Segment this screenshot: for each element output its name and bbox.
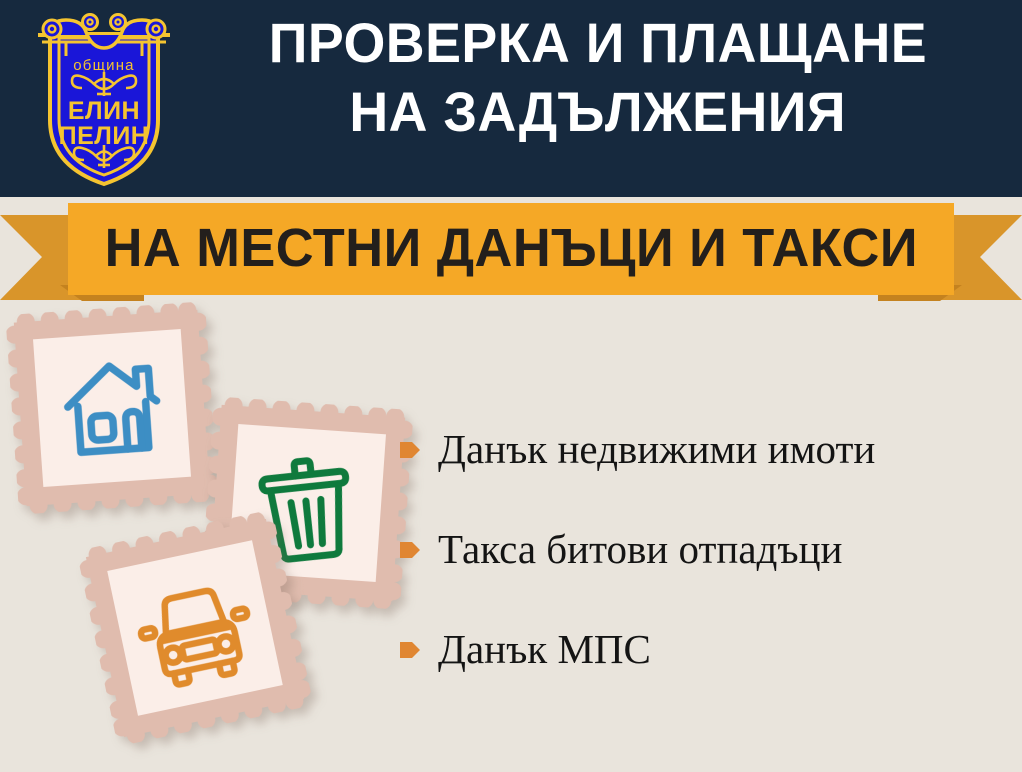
- arrow-bullet-icon: [400, 639, 420, 661]
- ribbon-label: НА МЕСТНИ ДАНЪЦИ И ТАКСИ: [104, 221, 917, 277]
- list-item-label: Данък МПС: [438, 627, 651, 671]
- list-item[interactable]: Такса битови отпадъци: [400, 525, 1012, 573]
- title-line-2: НА ЗАДЪЛЖЕНИЯ: [349, 85, 846, 140]
- tax-type-list: Данък недвижими имоти Такса битови отпад…: [400, 425, 1012, 673]
- list-item-label: Такса битови отпадъци: [438, 527, 842, 571]
- title-line-1: ПРОВЕРКА И ПЛАЩАНЕ: [268, 16, 926, 71]
- municipality-logo: община ЕЛИН ПЕЛИН: [28, 8, 180, 190]
- poster-canvas: община ЕЛИН ПЕЛИН: [0, 0, 1022, 772]
- list-item[interactable]: Данък МПС: [400, 625, 1012, 673]
- svg-text:община: община: [73, 57, 134, 74]
- list-item-label: Данък недвижими имоти: [438, 427, 875, 471]
- arrow-bullet-icon: [400, 539, 420, 561]
- header-bar: община ЕЛИН ПЕЛИН: [0, 0, 1022, 197]
- stamp-card-group: [0, 300, 420, 770]
- stamp-card-vehicle: [76, 509, 313, 746]
- svg-text:ЕЛИН: ЕЛИН: [68, 97, 140, 125]
- ribbon-banner: НА МЕСТНИ ДАНЪЦИ И ТАКСИ: [68, 203, 954, 295]
- stamp-card-property: [5, 301, 218, 514]
- subtitle-ribbon: НА МЕСТНИ ДАНЪЦИ И ТАКСИ: [0, 196, 1022, 304]
- header-title: ПРОВЕРКА И ПЛАЩАНЕ НА ЗАДЪЛЖЕНИЯ: [190, 16, 1005, 186]
- arrow-bullet-icon: [400, 439, 420, 461]
- list-item[interactable]: Данък недвижими имоти: [400, 425, 1012, 473]
